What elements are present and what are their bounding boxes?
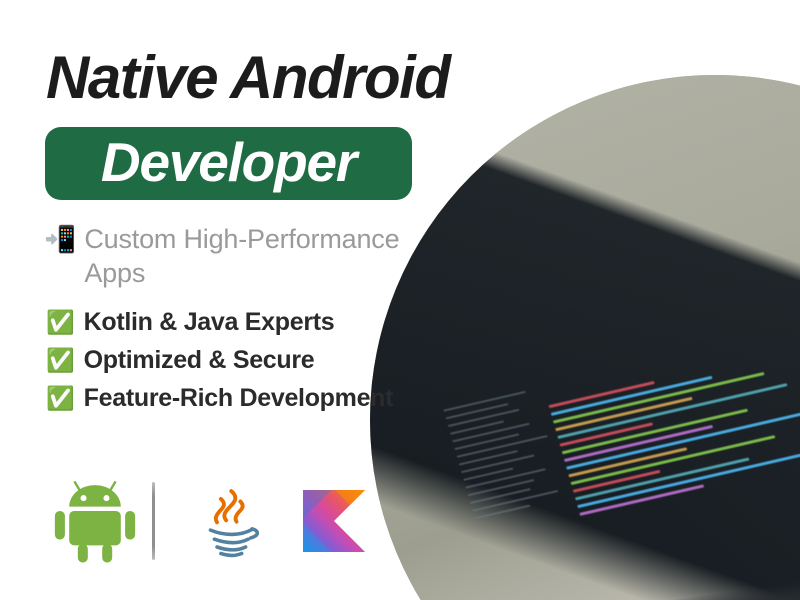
- mobile-phone-with-arrow-icon: 📲: [44, 222, 76, 256]
- developer-coding-laptop-photo: [370, 75, 800, 600]
- badge-developer: Developer: [45, 127, 412, 200]
- feature-item: ✅ Feature-Rich Development: [46, 384, 393, 413]
- feature-list: ✅ Kotlin & Java Experts ✅ Optimized & Se…: [46, 308, 393, 413]
- check-mark-button-icon: ✅: [46, 387, 75, 410]
- subtitle: 📲 Custom High-Performance Apps: [44, 222, 444, 290]
- feature-item: ✅ Kotlin & Java Experts: [46, 308, 393, 337]
- feature-label: Feature-Rich Development: [84, 384, 394, 413]
- java-logo: [187, 478, 273, 564]
- badge-label: Developer: [101, 135, 356, 190]
- headline: Native Android: [46, 48, 449, 108]
- poster-canvas: Native Android Developer 📲 Custom High-P…: [0, 0, 800, 600]
- feature-item: ✅ Optimized & Secure: [46, 346, 393, 375]
- check-mark-button-icon: ✅: [46, 311, 75, 334]
- feature-label: Kotlin & Java Experts: [84, 308, 335, 337]
- kotlin-logo: [291, 478, 377, 564]
- android-logo: [52, 478, 138, 564]
- subtitle-text: Custom High-Performance Apps: [84, 222, 444, 290]
- logo-divider: [152, 482, 155, 560]
- technology-logo-row: [52, 478, 377, 564]
- check-mark-button-icon: ✅: [46, 349, 75, 372]
- feature-label: Optimized & Secure: [84, 346, 315, 375]
